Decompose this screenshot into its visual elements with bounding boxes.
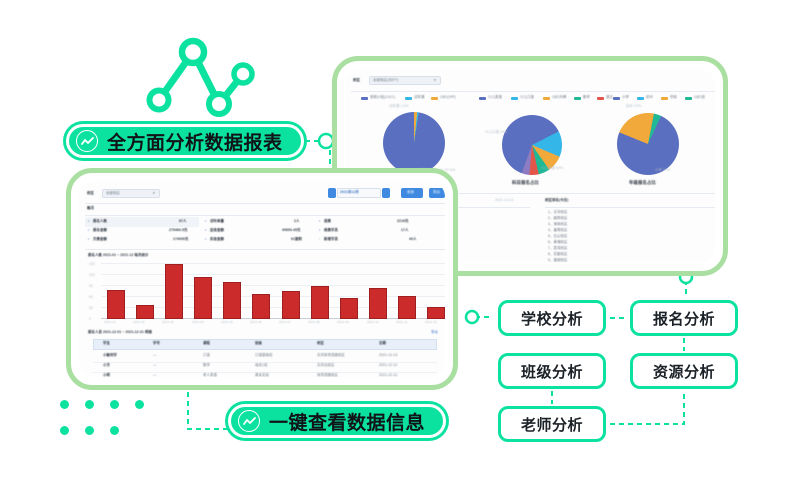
bar-chart-bar bbox=[223, 282, 241, 319]
legend-label: 少儿口语 bbox=[520, 96, 534, 99]
bar-chart-bar bbox=[107, 290, 125, 319]
stat-bullet-icon: • bbox=[319, 229, 320, 232]
export-button-label: 导出 bbox=[433, 191, 440, 194]
legend-chip bbox=[479, 97, 486, 100]
rank-item: 7、荔湾校区 bbox=[548, 247, 567, 250]
rank-item: 2、越秀校区 bbox=[548, 217, 567, 220]
x-tick-label: 2021-01 bbox=[104, 321, 116, 324]
bar-chart-bar bbox=[398, 296, 416, 319]
date-prev-button[interactable] bbox=[328, 188, 336, 198]
pie-annotation: 初中 22% bbox=[626, 105, 641, 108]
table-cell: 小敏同学 bbox=[103, 354, 117, 357]
analysis-button-school[interactable]: 学校分析 bbox=[498, 300, 606, 336]
pie-title: 年级报名占比 bbox=[629, 181, 656, 185]
y-tick-label: 90 bbox=[89, 285, 93, 288]
legend-label: 数学 bbox=[583, 96, 590, 99]
stat-bullet-icon: • bbox=[319, 220, 320, 223]
bar-chart-title: 报名人数 2021-01 ~ 2021-12 每月统计 bbox=[88, 254, 148, 257]
x-tick-label: 2021-04 bbox=[192, 321, 204, 324]
bar-chart-x-axis: 2021-012021-022021-032021-042021-052021-… bbox=[101, 321, 445, 329]
legend-label: 常规小班(2-6人) bbox=[370, 96, 395, 99]
stat-bullet-icon: • bbox=[88, 220, 89, 223]
bar-chart-bar bbox=[194, 277, 212, 319]
stat-value: 61面积 bbox=[291, 238, 302, 241]
date-next-button[interactable] bbox=[382, 188, 390, 198]
dashboard-panel-enrollment[interactable]: 校区 全部校区 ▾ 2021年12月 查询 导出 概况 • 报名人数 87人 •… bbox=[66, 168, 458, 390]
x-tick-label: 2021-10 bbox=[367, 321, 379, 324]
stats-bottom-divider bbox=[85, 249, 445, 250]
stat-label: 应收金额 bbox=[210, 229, 224, 232]
top-region-caret-icon: ▾ bbox=[434, 79, 436, 82]
bar-chart-y-axis: 1501209060300 bbox=[81, 259, 101, 321]
legend-chip bbox=[574, 97, 581, 100]
analysis-button-signup[interactable]: 报名分析 bbox=[630, 300, 738, 336]
stat-bullet-icon: • bbox=[319, 238, 320, 241]
pie-annotation: 试听课 1.6% bbox=[389, 105, 409, 108]
table-cell: 小方 bbox=[103, 364, 110, 367]
stat-value: 279464.5元 bbox=[169, 229, 187, 232]
legend-label: 学前 bbox=[670, 96, 677, 99]
y-tick-label: 30 bbox=[89, 307, 93, 310]
x-tick-label: 2021-03 bbox=[162, 321, 174, 324]
table-cell: 天河体育西路校区 bbox=[317, 354, 345, 357]
stat-bullet-icon: • bbox=[88, 229, 89, 232]
legend-label: 语文 bbox=[606, 96, 613, 99]
table-cell: 2021-12-12 bbox=[379, 374, 397, 377]
rank-item: 9、增城校区 bbox=[548, 259, 567, 262]
x-tick-label: 2021-07 bbox=[279, 321, 291, 324]
x-tick-label: 2021-12 bbox=[425, 321, 437, 324]
legend-label: 1对1(VIP) bbox=[440, 96, 456, 99]
label-pill-full-analysis[interactable]: 全方面分析数据报表 bbox=[66, 124, 304, 158]
table-cell: 天河北校区 bbox=[317, 364, 334, 367]
label-pill-text: 全方面分析数据报表 bbox=[107, 128, 283, 155]
bar-chart-bar bbox=[340, 298, 358, 319]
legend-chip bbox=[543, 97, 550, 100]
pie-title: 科目报名占比 bbox=[512, 181, 539, 185]
stat-bullet-icon: • bbox=[88, 238, 89, 241]
infographic-canvas: 校区 全部校区(共5个) ▾ 常规小班(2-6人) 试听课 1对1(VIP) 试… bbox=[0, 0, 800, 500]
legend-chip bbox=[637, 97, 644, 100]
table-cell: — bbox=[153, 374, 157, 377]
line-chart-icon bbox=[76, 130, 98, 152]
stat-label: 报名人数 bbox=[93, 220, 107, 223]
top-region-label: 校区 bbox=[353, 79, 360, 82]
legend-label: 1对1外教 bbox=[552, 96, 566, 99]
stat-label: 续费学员 bbox=[324, 229, 338, 232]
table-cell: 2021-12-12 bbox=[379, 364, 397, 367]
legend-label: 初中 bbox=[646, 96, 653, 99]
bar-chart-bar bbox=[252, 294, 270, 319]
rank-item: 4、番禺校区 bbox=[548, 229, 567, 232]
stat-value: 17人 bbox=[401, 229, 408, 232]
table-export-button[interactable]: 导出 bbox=[431, 331, 438, 334]
top-region-value: 全部校区(共5个) bbox=[373, 79, 398, 82]
table-cell: 体育西路校区 bbox=[317, 374, 338, 377]
date-value: 2021年12月 bbox=[340, 191, 359, 194]
stat-value: 40654.45元 bbox=[282, 229, 300, 232]
legend-chip bbox=[405, 97, 412, 100]
stat-label: 欠费金额 bbox=[93, 238, 107, 241]
rank-item: 6、黄埔校区 bbox=[548, 241, 567, 244]
table-column-header: 班级 bbox=[255, 342, 262, 345]
table-column-header: 日期 bbox=[379, 342, 386, 345]
analysis-button-teacher[interactable]: 老师分析 bbox=[498, 406, 606, 442]
table-cell: 2021-12-13 bbox=[379, 354, 397, 357]
legend-chip bbox=[361, 97, 368, 100]
legend-label: 1对1班 bbox=[694, 96, 705, 99]
stats-section-title: 概况 bbox=[87, 207, 94, 210]
table-column-header: 校区 bbox=[317, 342, 324, 345]
table-title: 报名人员 2021-12-01 ~ 2021-12-31 明细 bbox=[88, 331, 152, 334]
rank-item: 1、天河校区 bbox=[548, 211, 567, 214]
y-tick-label: 0 bbox=[89, 318, 91, 321]
search-button-label: 查询 bbox=[407, 191, 414, 194]
x-tick-label: 2021-05 bbox=[221, 321, 233, 324]
pie-annotation: 少儿口语 14% bbox=[485, 131, 507, 134]
y-tick-label: 120 bbox=[89, 274, 95, 277]
legend-chip bbox=[597, 97, 604, 100]
legend-label: 少儿英语 bbox=[488, 96, 502, 99]
stats-divider bbox=[85, 215, 445, 216]
table-cell: 口语基础班 bbox=[255, 354, 272, 357]
table-cell: 考人英语 bbox=[203, 374, 217, 377]
connector-joint-mid bbox=[466, 311, 478, 323]
bottom-region-value: 全部校区 bbox=[106, 192, 120, 195]
legend-chip bbox=[685, 97, 692, 100]
stat-label: 新增学员 bbox=[324, 238, 338, 241]
y-tick-label: 150 bbox=[89, 263, 95, 266]
table-column-header: 学号 bbox=[153, 342, 160, 345]
table-cell: 数学 bbox=[203, 364, 210, 367]
table-column-header: 学生 bbox=[103, 342, 110, 345]
stat-bullet-icon: • bbox=[205, 238, 206, 241]
legend-chip bbox=[431, 97, 438, 100]
legend-chip bbox=[511, 97, 518, 100]
stat-label: 实收金额 bbox=[210, 238, 224, 241]
rank-item: 5、白云校区 bbox=[548, 235, 567, 238]
table-cell: — bbox=[153, 354, 157, 357]
table-column-header: 课程 bbox=[203, 342, 210, 345]
analysis-button-class[interactable]: 班级分析 bbox=[498, 353, 606, 389]
bottom-region-caret-icon: ▾ bbox=[153, 192, 155, 195]
stat-label: 报名金额 bbox=[93, 229, 107, 232]
table-cell: — bbox=[153, 364, 157, 367]
table-cell: 周末名班 bbox=[255, 374, 269, 377]
top-footer-right-title: 校区排名(今日) bbox=[545, 199, 568, 202]
stat-value: 2人 bbox=[294, 220, 299, 223]
dashboard-bottom-inner: 校区 全部校区 ▾ 2021年12月 查询 导出 概况 • 报名人数 87人 •… bbox=[79, 181, 445, 377]
rank-item: 8、花都校区 bbox=[548, 253, 567, 256]
stat-bullet-icon: • bbox=[205, 220, 206, 223]
pie-shape bbox=[617, 113, 679, 175]
bar-chart-bar bbox=[136, 305, 154, 319]
stat-value: 87人 bbox=[179, 220, 186, 223]
legend-label: 试听课 bbox=[414, 96, 424, 99]
x-tick-label: 2021-02 bbox=[133, 321, 145, 324]
rank-item: 3、海珠校区 bbox=[548, 223, 567, 226]
table-cell: 培优1班 bbox=[255, 364, 267, 367]
stat-value: 174000元 bbox=[173, 238, 188, 241]
top-footer-right-divider bbox=[545, 207, 715, 208]
bar-chart-bar bbox=[369, 288, 387, 319]
stat-label: 试听单量 bbox=[210, 220, 224, 223]
table-cell: 小明 bbox=[103, 374, 110, 377]
x-tick-label: 2021-06 bbox=[250, 321, 262, 324]
stat-value: 2216元 bbox=[397, 220, 408, 223]
label-pill-text: 一键查看数据信息 bbox=[269, 408, 425, 435]
bar-chart bbox=[101, 263, 445, 319]
bar-chart-bar bbox=[165, 264, 183, 319]
pie-shape bbox=[383, 112, 445, 174]
bottom-toolbar-divider bbox=[85, 203, 445, 204]
legend-chip bbox=[661, 97, 668, 100]
bar-chart-bar bbox=[427, 307, 445, 319]
top-toolbar-divider bbox=[351, 91, 715, 92]
bottom-region-label: 校区 bbox=[87, 192, 94, 195]
connector-joint-top bbox=[319, 134, 333, 148]
stat-bullet-icon: • bbox=[205, 229, 206, 232]
pie-annotation: 小学 74% bbox=[655, 169, 670, 172]
legend-chip bbox=[613, 97, 620, 100]
x-tick-label: 2021-08 bbox=[308, 321, 320, 324]
pie-annotation: 少儿英语 62% bbox=[541, 167, 563, 170]
x-tick-label: 2021-11 bbox=[396, 321, 408, 324]
top-footer-date: 2021-12-13 bbox=[495, 199, 513, 202]
line-chart-icon bbox=[238, 410, 260, 432]
x-tick-label: 2021-09 bbox=[337, 321, 349, 324]
legend-label: 小学 bbox=[622, 96, 629, 99]
y-tick-label: 60 bbox=[89, 296, 93, 299]
stat-label: 退费 bbox=[324, 220, 331, 223]
stat-value: 40人 bbox=[409, 238, 416, 241]
bar-chart-bar bbox=[282, 291, 300, 319]
table-cell: 口语 bbox=[203, 354, 210, 357]
analysis-button-resource[interactable]: 资源分析 bbox=[630, 353, 738, 389]
bar-chart-bar bbox=[311, 286, 329, 319]
label-pill-one-click[interactable]: 一键查看数据信息 bbox=[228, 404, 446, 438]
